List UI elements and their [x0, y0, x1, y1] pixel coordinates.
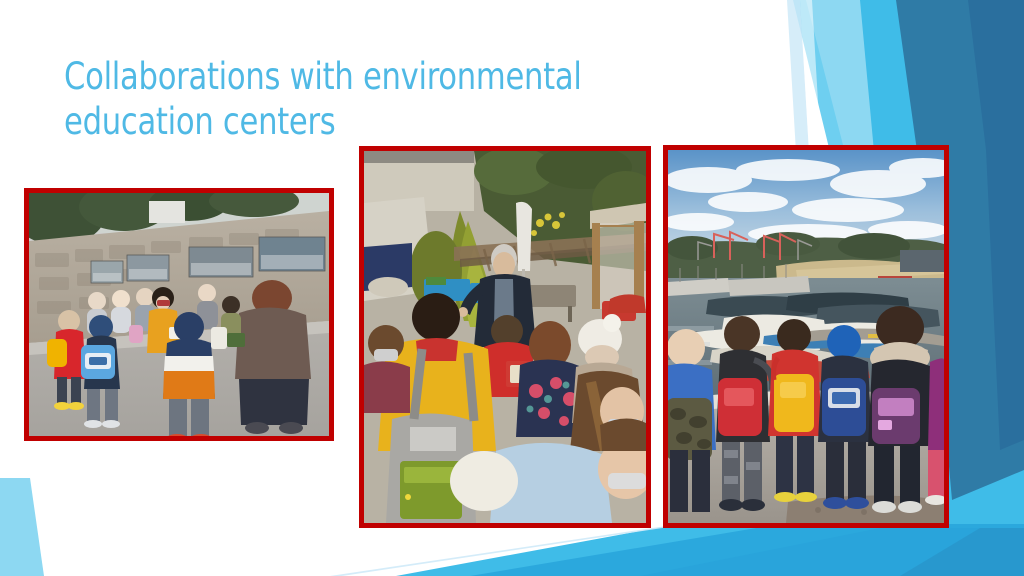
deco-shape-lightblue-left: [0, 478, 44, 576]
photo-frame-1[interactable]: [24, 188, 334, 441]
photo-frame-3[interactable]: [663, 145, 949, 528]
deco-shape-blue-bottom-right: [900, 528, 1024, 576]
deco-streak-pale-bottom: [330, 520, 716, 576]
photo-frame-2[interactable]: [359, 146, 651, 528]
photo-2-image: [364, 151, 646, 523]
deco-shape-cyan-bottom-2: [470, 524, 1024, 576]
presentation-slide: Collaborations with environmental educat…: [0, 0, 1024, 576]
photo-3-image: [668, 150, 944, 523]
deco-shape-cyan-bottom-3: [640, 528, 1024, 576]
deco-shape-deepblue-right: [968, 0, 1024, 450]
page-title: Collaborations with environmental educat…: [64, 54, 671, 144]
deco-shape-cyan-bottom-1: [396, 520, 1024, 576]
photo-1-image: [29, 193, 329, 436]
